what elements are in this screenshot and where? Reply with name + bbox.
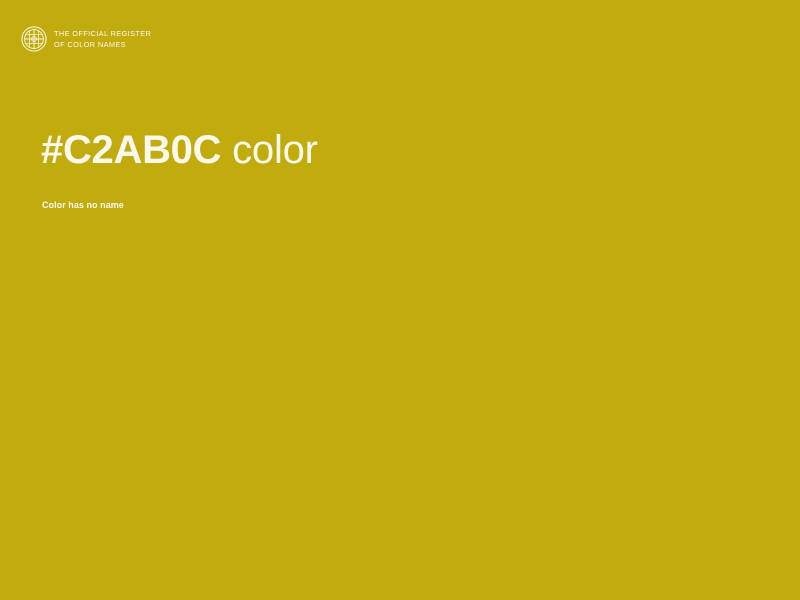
site-brand-lockup[interactable]: THE OFFICIAL REGISTER OF COLOR NAMES bbox=[21, 26, 151, 52]
register-seal-icon bbox=[21, 26, 47, 52]
brand-line-1: THE OFFICIAL REGISTER bbox=[54, 29, 151, 40]
brand-wordmark: THE OFFICIAL REGISTER OF COLOR NAMES bbox=[54, 28, 151, 50]
color-name-status: Color has no name bbox=[42, 199, 124, 211]
color-info-block: #C2AB0C color Color has no name bbox=[41, 124, 761, 176]
brand-line-2: OF COLOR NAMES bbox=[54, 40, 151, 51]
title-suffix: color bbox=[221, 128, 318, 172]
color-page: THE OFFICIAL REGISTER OF COLOR NAMES #C2… bbox=[0, 0, 800, 600]
page-title: #C2AB0C color bbox=[41, 124, 761, 176]
hex-code-value: #C2AB0C bbox=[41, 128, 221, 172]
